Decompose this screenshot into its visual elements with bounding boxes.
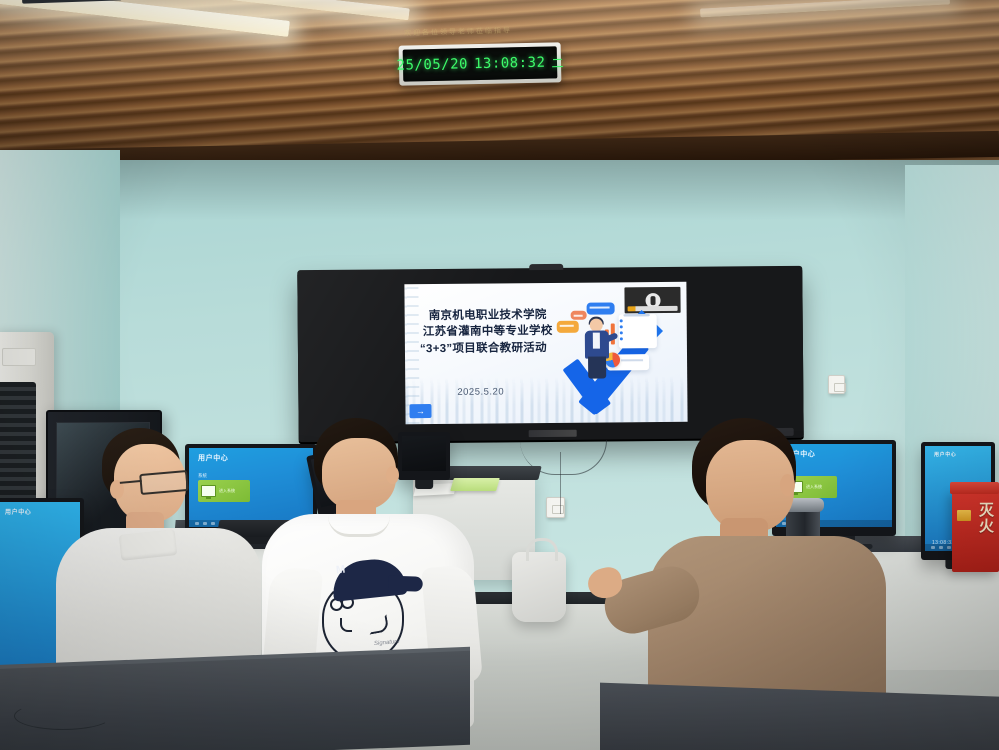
- power-cable: [14, 702, 112, 730]
- illustration-presenter-figure: [581, 318, 616, 380]
- led-wall-clock: 25/05/20 13:08:32 二: [399, 42, 562, 85]
- screen-title: 用户中心: [934, 451, 956, 458]
- desk-foreground-left: [0, 651, 470, 750]
- cap-monogram: M: [335, 564, 345, 577]
- eyeglasses-icon: [139, 470, 189, 495]
- ac-control-panel[interactable]: [2, 348, 36, 366]
- board-brand-logo: [529, 430, 577, 437]
- clock-time: 13:08:32: [474, 55, 546, 72]
- clock-display: 25/05/20 13:08:32 二: [403, 46, 558, 81]
- fire-cabinet-label: 灭火: [977, 502, 993, 534]
- display-cable: [560, 452, 595, 514]
- illustration-speech-bubble: [587, 302, 615, 314]
- cabinet-top: [950, 482, 999, 494]
- wall-switch[interactable]: [828, 375, 845, 394]
- ear: [386, 466, 399, 484]
- nose-icon: [340, 618, 352, 632]
- cabinet-badge-icon: [957, 510, 971, 521]
- wall-shadow: [0, 160, 999, 220]
- ear: [780, 474, 795, 496]
- clock-date: 25/05/20: [396, 56, 468, 73]
- slide-date: 2025.5.20: [457, 386, 504, 397]
- graphic-signature: Signature: [374, 639, 400, 647]
- fire-equipment-cabinet: 灭火: [952, 490, 999, 572]
- illustration-checklist-card: [619, 314, 657, 348]
- slide-next-arrow-icon[interactable]: →: [409, 404, 431, 418]
- tote-bag: [512, 552, 566, 622]
- classroom-scene: 欢迎各位领导老师莅临指导 25/05/20 13:08:32 二 南京机电职业技…: [0, 0, 999, 750]
- clock-weekday: 二: [551, 54, 563, 71]
- illustration-speech-bubble: [557, 321, 579, 333]
- presentation-slide: 南京机电职业技术学院 江苏省灌南中等专业学校 “3+3”项目联合教研活动 202…: [404, 282, 687, 424]
- screen-title: 用户中心: [5, 507, 31, 516]
- board-camera-icon: [529, 264, 563, 270]
- slide-illustration: [554, 294, 683, 419]
- interactive-smart-board[interactable]: 南京机电职业技术学院 江苏省灌南中等专业学校 “3+3”项目联合教研活动 202…: [297, 266, 803, 442]
